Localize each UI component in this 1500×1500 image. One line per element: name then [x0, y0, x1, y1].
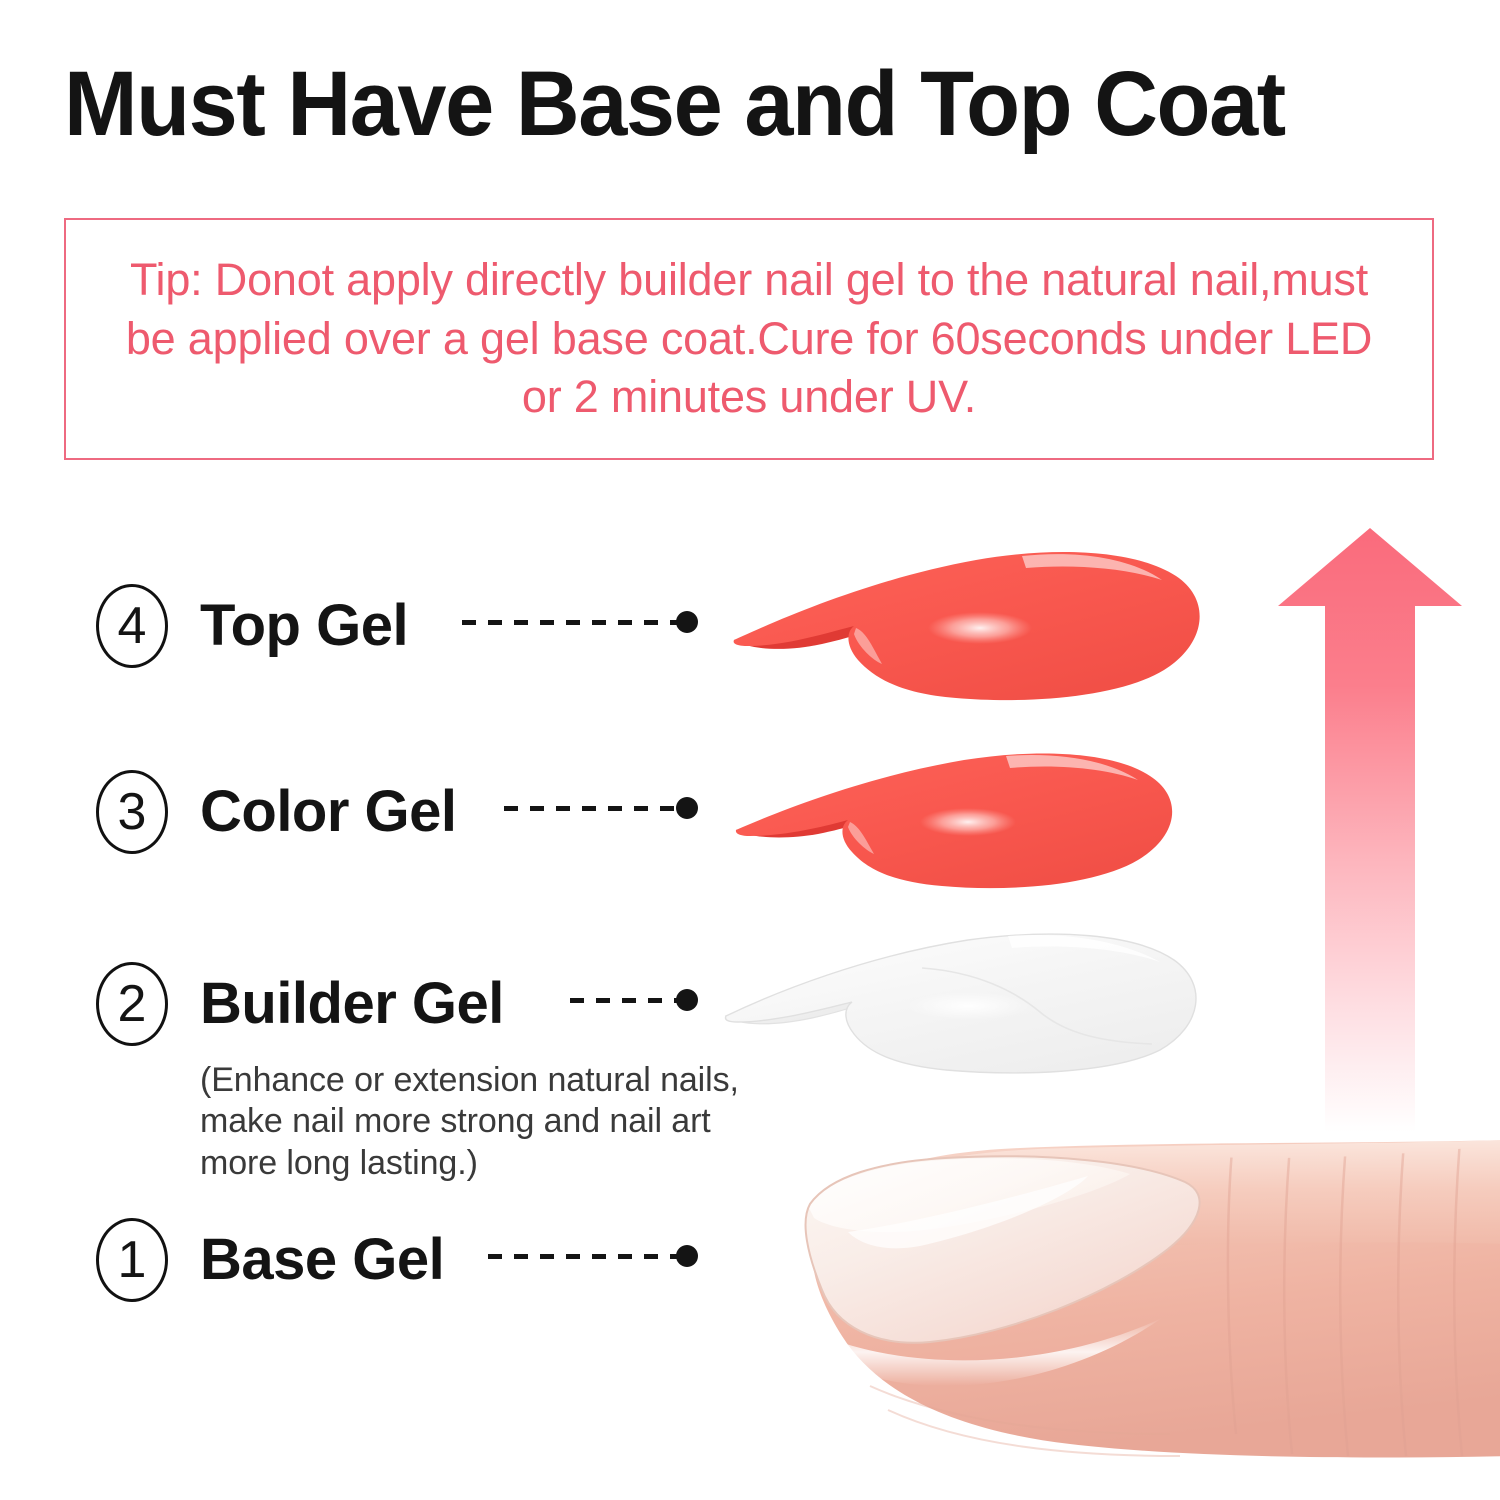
red-gel-swatch-top — [726, 528, 1238, 720]
tip-callout-box: Tip: Donot apply directly builder nail g… — [64, 218, 1434, 460]
leader-line-builder-gel — [570, 998, 686, 1003]
leader-line-base-gel — [488, 1254, 686, 1259]
clear-gel-swatch-builder — [716, 926, 1236, 1076]
tip-text: Tip: Donot apply directly builder nail g… — [113, 251, 1385, 427]
step-number-2: 2 — [96, 962, 168, 1046]
leader-line-top-gel — [462, 620, 684, 625]
leader-dot-builder-gel — [676, 989, 698, 1011]
leader-dot-base-gel — [676, 1245, 698, 1267]
thumb-with-natural-nail-photo — [770, 1104, 1500, 1500]
red-gel-swatch-color — [730, 736, 1208, 896]
page-title: Must Have Base and Top Coat — [64, 58, 1389, 150]
leader-dot-top-gel — [676, 611, 698, 633]
step-label-top-gel: Top Gel — [200, 597, 408, 655]
step-number-4: 4 — [96, 584, 168, 668]
step-label-color-gel: Color Gel — [200, 783, 457, 841]
infographic-page: Must Have Base and Top Coat Tip: Donot a… — [0, 0, 1500, 1500]
step-number-1: 1 — [96, 1218, 168, 1302]
leader-dot-color-gel — [676, 797, 698, 819]
layer-order-arrow-icon — [1272, 522, 1468, 1132]
builder-gel-note: (Enhance or extension natural nails, mak… — [200, 1060, 780, 1184]
step-label-builder-gel: Builder Gel — [200, 975, 504, 1033]
leader-line-color-gel — [504, 806, 686, 811]
step-label-base-gel: Base Gel — [200, 1231, 444, 1289]
step-number-3: 3 — [96, 770, 168, 854]
